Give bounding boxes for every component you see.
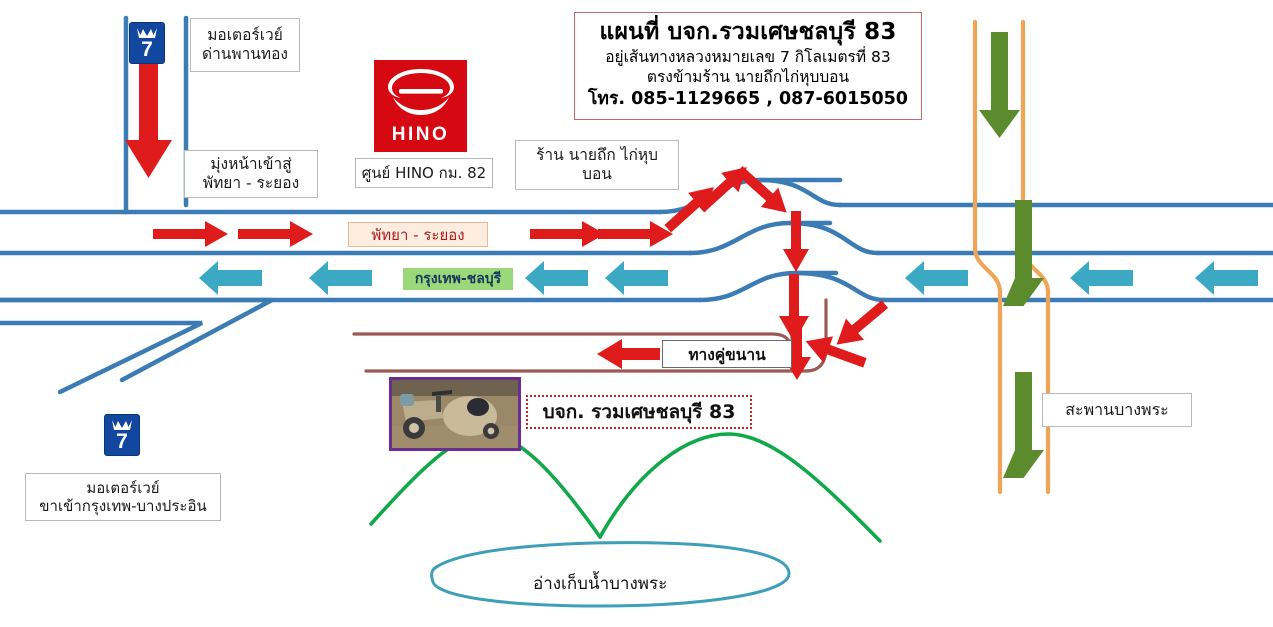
route-pill-bangkok-chonburi: กรุงเทพ-ชลบุรี: [403, 268, 513, 290]
red-arrow-motorway-down: [125, 58, 172, 178]
road-slip-ramp-outer: [0, 323, 202, 392]
title-phone-numbers: โทร. 085-1129665 , 087-6015050: [585, 87, 911, 112]
teal-arrow-left-5: [905, 261, 968, 295]
route-pill-pattaya-rayong: พัทยา - ระยอง: [348, 222, 488, 247]
teal-arrow-left-1: [199, 261, 262, 295]
label-heading-to-pattaya-rayong: มุ่งหน้าเข้าสู่ พัทยา - ระยอง: [184, 150, 318, 198]
site-photo: [389, 377, 521, 451]
title-heading: แผนที่ บจก.รวมเศษชลบุรี 83: [585, 18, 911, 47]
red-arrow-right-3: [530, 221, 605, 247]
teal-arrow-left-7: [1195, 261, 1258, 295]
road-mid-overpass-hump: [690, 223, 830, 253]
label-bang-phra-bridge: สะพานบางพระ: [1042, 393, 1192, 427]
road-slip-ramp-inner: [0, 300, 272, 380]
hino-wordmark: HINO: [392, 124, 450, 146]
motorway-shield-bottom: 7: [104, 414, 140, 456]
red-arrow-down-1: [783, 211, 809, 272]
map-title-card: แผนที่ บจก.รวมเศษชลบุรี 83 อยู่เส้นทางหล…: [574, 12, 922, 120]
teal-arrow-left-6: [1070, 261, 1133, 295]
label-motorway-to-bangkok: มอเตอร์เวย์ ขาเข้ากรุงเทพ-บางประอิน: [25, 473, 221, 521]
red-arrow-right-1: [153, 221, 228, 247]
title-subheading-landmark: ตรงข้ามร้าน นายถึกไก่หุบบอน: [585, 67, 911, 87]
label-reservoir: อ่างเก็บน้ำบางพระ: [533, 570, 667, 597]
teal-direction-arrows: [199, 261, 1258, 295]
teal-arrow-left-2: [309, 261, 372, 295]
orange-road: [975, 22, 1048, 492]
map-canvas: แผนที่ บจก.รวมเศษชลบุรี 83 อยู่เส้นทางหล…: [0, 0, 1273, 627]
red-arrow-left-parallel: [597, 339, 660, 369]
road-mid-hump-descend: [790, 223, 878, 253]
label-hino-center: ศูนย์ HINO กม. 82: [355, 158, 493, 188]
teal-arrow-left-3: [525, 261, 588, 295]
label-nai-thuek-shop: ร้าน นายถึก ไก่หุบ บอน: [515, 140, 679, 190]
shield-route-number: 7: [116, 432, 128, 452]
red-arrow-diag-downleft-1: [828, 293, 894, 355]
red-arrow-right-4: [598, 221, 673, 247]
green-arrow-down-3: [1003, 372, 1044, 478]
title-subheading-route: อยู่เส้นทางหลวงหมายเลข 7 กิโลเมตรที่ 83: [585, 47, 911, 67]
red-arrow-diag-up-2: [692, 158, 755, 219]
road-low-overpass-hump: [700, 273, 836, 300]
green-arrow-down-1: [979, 32, 1020, 138]
label-motorway-dan-phan-thong: มอเตอร์เวย์ ด่านพานทอง: [190, 18, 300, 72]
red-arrow-right-2: [238, 221, 313, 247]
hill-right: [600, 434, 880, 541]
shield-route-number: 7: [141, 40, 153, 60]
teal-arrow-left-4: [605, 261, 668, 295]
route-pill-parallel-road: ทางคู่ขนาน: [662, 340, 792, 368]
hino-emblem-icon: [385, 66, 457, 122]
hino-logo: HINO: [374, 60, 467, 152]
destination-callout: บจก. รวมเศษชลบุรี 83: [526, 395, 752, 429]
road-low-hump-descend: [796, 273, 884, 300]
red-arrow-diag-down-1: [730, 160, 795, 222]
motorway-shield-top: 7: [129, 22, 165, 64]
